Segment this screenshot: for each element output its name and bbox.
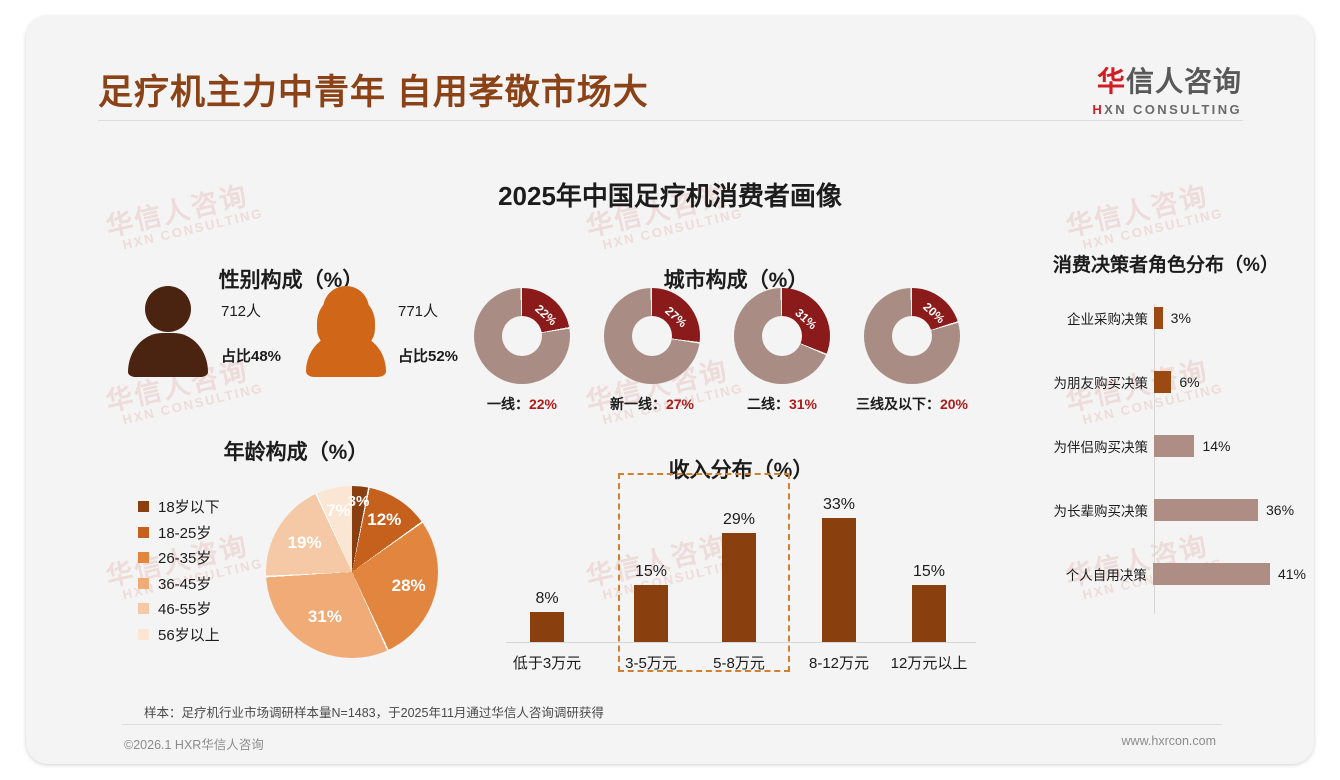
income-value-label: 15% (889, 563, 969, 581)
age-legend-label: 18-25岁 (158, 522, 211, 543)
donut-hole (762, 316, 802, 356)
age-legend-swatch (138, 578, 149, 589)
website-text: www.hxrcon.com (1122, 734, 1216, 748)
income-category-label: 5-8万元 (689, 652, 789, 673)
income-bar (722, 533, 756, 642)
decision-value-label: 41% (1278, 566, 1306, 582)
age-legend-label: 26-35岁 (158, 547, 211, 568)
male-head-shape (145, 286, 191, 332)
age-legend-item: 26-35岁 (138, 545, 220, 571)
screenshot-root: 华信人咨询HXN CONSULTING 华信人咨询HXN CONSULTING … (0, 0, 1340, 780)
male-share: 占比48% (221, 345, 281, 366)
city-caption-4: 三线及以下：20% (856, 394, 968, 414)
age-section-title: 年龄构成（%） (146, 436, 446, 466)
page-title: 足疗机主力中青年 自用孝敬市场大 (98, 64, 649, 115)
decision-bar (1154, 371, 1171, 393)
male-body-shape (128, 333, 208, 377)
logo-cn-text: 华信人咨询 (1092, 60, 1242, 100)
age-legend-item: 18岁以下 (138, 494, 220, 520)
decision-value-label: 6% (1179, 374, 1199, 390)
donut-chart: 22% (474, 288, 570, 384)
city-donut-3: 31% 二线：31% (734, 288, 830, 384)
decision-category-label: 企业采购决策 (1026, 308, 1154, 328)
income-bar (912, 585, 946, 642)
age-slice-label: 31% (305, 607, 345, 627)
age-pie-legend: 18岁以下18-25岁26-35岁36-45岁46-55岁56岁以上 (138, 494, 220, 647)
age-legend-label: 56岁以上 (158, 624, 220, 645)
decision-row: 为长辈购买决策36% (1026, 498, 1306, 522)
city-donut-1: 22% 一线：22% (474, 288, 570, 384)
age-legend-swatch (138, 501, 149, 512)
age-legend-item: 36-45岁 (138, 571, 220, 597)
income-value-label: 33% (799, 496, 879, 514)
slide-card: 华信人咨询HXN CONSULTING 华信人咨询HXN CONSULTING … (26, 16, 1314, 764)
female-avatar-icon (306, 286, 386, 377)
decision-bar (1153, 563, 1270, 585)
age-legend-swatch (138, 629, 149, 640)
decision-row: 为朋友购买决策6% (1026, 370, 1306, 394)
income-bar-chart: 8%低于3万元15%3-5万元29%5-8万元33%8-12万元15%12万元以… (506, 486, 976, 681)
age-legend-item: 18-25岁 (138, 520, 220, 546)
logo-en-text: HXN CONSULTING (1092, 102, 1242, 117)
income-category-label: 低于3万元 (497, 652, 597, 673)
male-count: 712人 (221, 300, 281, 321)
income-category-label: 3-5万元 (601, 652, 701, 673)
decision-bar (1154, 307, 1163, 329)
slide-header: 足疗机主力中青年 自用孝敬市场大 华信人咨询 HXN CONSULTING (26, 16, 1314, 118)
city-donut-2: 27% 新一线：27% (604, 288, 700, 384)
income-value-label: 29% (699, 511, 779, 529)
decision-bar (1154, 499, 1258, 521)
age-pie-chart: 3%12%28%31%19%7% (266, 486, 438, 658)
donut-hole (632, 316, 672, 356)
decision-category-label: 个人自用决策 (1026, 564, 1153, 584)
female-head-shape (323, 286, 369, 332)
income-bar (634, 585, 668, 642)
city-caption-3: 二线：31% (747, 394, 817, 414)
sample-note: 样本：足疗机行业市场调研样本量N=1483，于2025年11月通过华信人咨询调研… (144, 702, 604, 721)
donut-hole (892, 316, 932, 356)
decision-row: 为伴侣购买决策14% (1026, 434, 1306, 458)
decision-bar-chart: 企业采购决策3%为朋友购买决策6%为伴侣购买决策14%为长辈购买决策36%个人自… (1026, 296, 1306, 626)
age-slice-label: 12% (364, 510, 404, 530)
donut-chart: 20% (864, 288, 960, 384)
city-donut-4: 20% 三线及以下：20% (864, 288, 960, 384)
decision-value-label: 14% (1202, 438, 1230, 454)
main-chart-title: 2025年中国足疗机消费者画像 (26, 176, 1314, 213)
income-bar (822, 518, 856, 642)
income-category-label: 8-12万元 (789, 652, 889, 673)
age-legend-item: 56岁以上 (138, 622, 220, 648)
decision-bar (1154, 435, 1194, 457)
female-share: 占比52% (398, 345, 458, 366)
income-value-label: 8% (507, 590, 587, 608)
decision-category-label: 为伴侣购买决策 (1026, 436, 1154, 456)
age-legend-item: 46-55岁 (138, 596, 220, 622)
decision-row: 企业采购决策3% (1026, 306, 1306, 330)
age-slice-label: 19% (285, 533, 325, 553)
male-avatar-icon (128, 286, 208, 377)
age-slice-label: 28% (389, 576, 429, 596)
gender-composition: 712人 占比48% 771人 占比52% (116, 286, 466, 391)
income-value-label: 15% (611, 563, 691, 581)
age-legend-label: 36-45岁 (158, 573, 211, 594)
city-caption-1: 一线：22% (487, 394, 557, 414)
age-legend-label: 46-55岁 (158, 598, 211, 619)
company-logo: 华信人咨询 HXN CONSULTING (1092, 60, 1242, 117)
footer-divider (122, 724, 1222, 725)
decision-category-label: 为长辈购买决策 (1026, 500, 1154, 520)
female-count: 771人 (398, 300, 458, 321)
decision-category-label: 为朋友购买决策 (1026, 372, 1154, 392)
female-stats: 771人 占比52% (398, 300, 458, 366)
age-legend-swatch (138, 552, 149, 563)
age-slice-label: 7% (318, 501, 358, 521)
age-legend-swatch (138, 527, 149, 538)
donut-chart: 31% (734, 288, 830, 384)
age-legend-swatch (138, 603, 149, 614)
donut-hole (502, 316, 542, 356)
male-stats: 712人 占比48% (221, 300, 281, 366)
header-divider (98, 120, 1243, 121)
decision-section-title: 消费决策者角色分布（%） (1026, 250, 1306, 277)
city-caption-2: 新一线：27% (610, 394, 694, 414)
copyright-text: ©2026.1 HXR华信人咨询 (124, 734, 264, 753)
decision-value-label: 3% (1171, 310, 1191, 326)
decision-row: 个人自用决策41% (1026, 562, 1306, 586)
donut-chart: 27% (604, 288, 700, 384)
income-bar (530, 612, 564, 642)
female-body-shape (306, 333, 386, 377)
decision-value-label: 36% (1266, 502, 1294, 518)
age-legend-label: 18岁以下 (158, 496, 220, 517)
income-category-label: 12万元以上 (879, 652, 979, 673)
